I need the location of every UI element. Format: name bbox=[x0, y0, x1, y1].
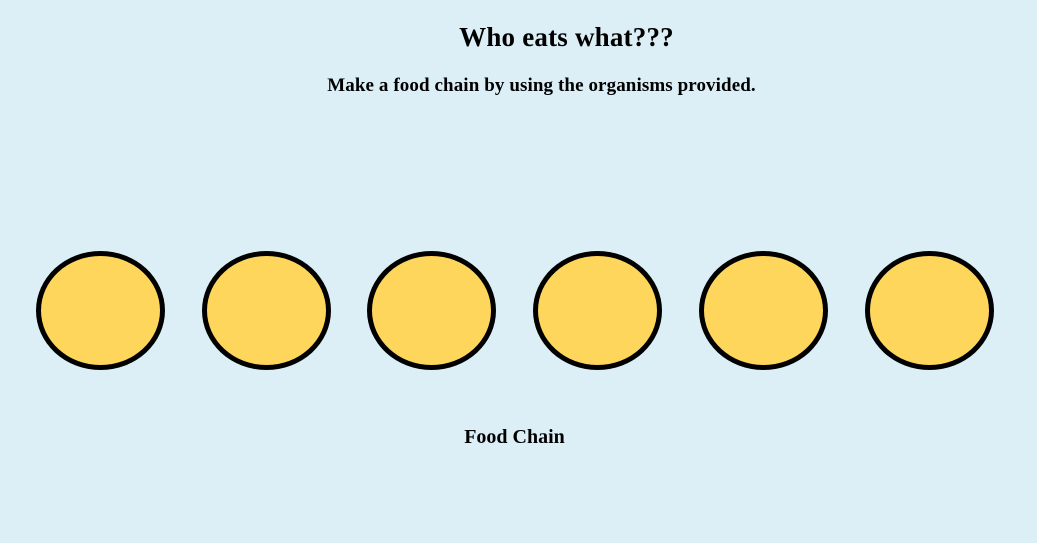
organism-slot-5[interactable] bbox=[699, 251, 828, 370]
organism-slot-6[interactable] bbox=[865, 251, 994, 370]
organism-slot-3[interactable] bbox=[367, 251, 496, 370]
page-title: Who eats what??? bbox=[0, 20, 1037, 54]
food-chain-label: Food Chain bbox=[0, 424, 1029, 450]
instruction-text: Make a food chain by using the organisms… bbox=[0, 73, 1037, 99]
organism-slot-2[interactable] bbox=[202, 251, 331, 370]
organism-slot-1[interactable] bbox=[36, 251, 165, 370]
food-chain-worksheet: Who eats what??? Make a food chain by us… bbox=[0, 0, 1037, 543]
organism-slot-4[interactable] bbox=[533, 251, 662, 370]
organism-slot-row bbox=[36, 251, 994, 371]
